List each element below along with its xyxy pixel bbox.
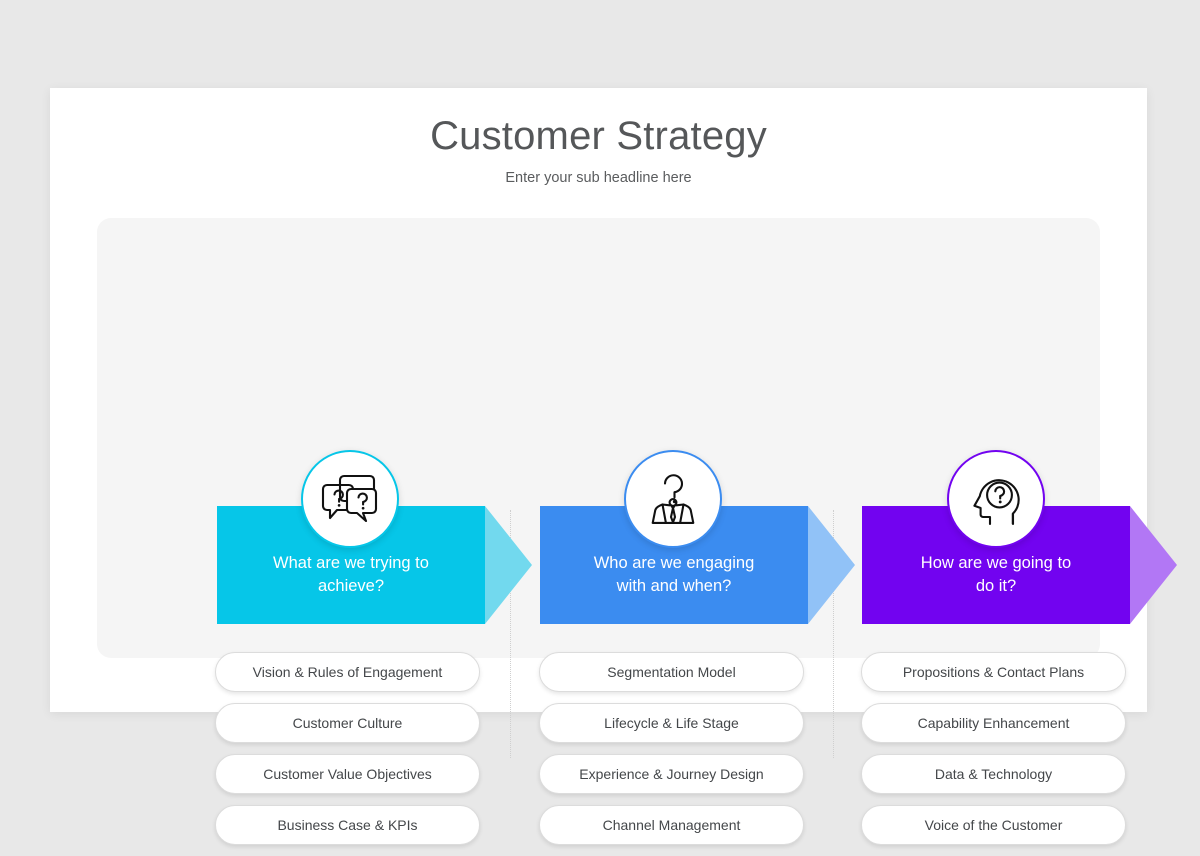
speech-bubbles-question-icon: [301, 450, 399, 548]
list-item[interactable]: Capability Enhancement: [861, 703, 1126, 743]
diagram-panel: What are we trying to achieve? Vision & …: [97, 218, 1100, 658]
arrow-head-3: [1130, 506, 1177, 624]
stage-question-1-line2: achieve?: [318, 577, 384, 595]
stage-question-2-line1: Who are we engaging: [594, 554, 755, 572]
list-item-label: Channel Management: [603, 817, 741, 833]
list-item-label: Data & Technology: [935, 766, 1052, 782]
stage-question-1: What are we trying to achieve?: [217, 552, 485, 598]
stage-items-2: Segmentation Model Lifecycle & Life Stag…: [539, 652, 804, 856]
list-item-label: Vision & Rules of Engagement: [253, 664, 443, 680]
arrow-head-1: [485, 506, 532, 624]
stage-question-2: Who are we engaging with and when?: [540, 552, 808, 598]
list-item[interactable]: Segmentation Model: [539, 652, 804, 692]
list-item[interactable]: Customer Value Objectives: [215, 754, 480, 794]
list-item[interactable]: Vision & Rules of Engagement: [215, 652, 480, 692]
list-item[interactable]: Voice of the Customer: [861, 805, 1126, 845]
list-item[interactable]: Data & Technology: [861, 754, 1126, 794]
stage-items-1: Vision & Rules of Engagement Customer Cu…: [215, 652, 480, 856]
head-profile-question-icon: [947, 450, 1045, 548]
slide-card: Customer Strategy Enter your sub headlin…: [50, 88, 1147, 712]
list-item[interactable]: Channel Management: [539, 805, 804, 845]
list-item[interactable]: Lifecycle & Life Stage: [539, 703, 804, 743]
list-item-label: Experience & Journey Design: [579, 766, 763, 782]
list-item-label: Business Case & KPIs: [277, 817, 417, 833]
person-question-head-icon: [624, 450, 722, 548]
stage-question-1-line1: What are we trying to: [273, 554, 429, 572]
list-item-label: Customer Value Objectives: [263, 766, 432, 782]
list-item-label: Capability Enhancement: [918, 715, 1070, 731]
stage-items-3: Propositions & Contact Plans Capability …: [861, 652, 1126, 856]
page-subtitle: Enter your sub headline here: [50, 170, 1147, 186]
stage-question-3-line2: do it?: [976, 577, 1016, 595]
list-item[interactable]: Customer Culture: [215, 703, 480, 743]
list-item-label: Segmentation Model: [607, 664, 735, 680]
stage-question-3: How are we going to do it?: [862, 552, 1130, 598]
list-item-label: Propositions & Contact Plans: [903, 664, 1084, 680]
list-item-label: Voice of the Customer: [925, 817, 1063, 833]
list-item[interactable]: Business Case & KPIs: [215, 805, 480, 845]
arrow-head-2: [808, 506, 855, 624]
list-item[interactable]: Experience & Journey Design: [539, 754, 804, 794]
page-title: Customer Strategy: [50, 114, 1147, 159]
list-item-label: Lifecycle & Life Stage: [604, 715, 739, 731]
stage-question-2-line2: with and when?: [617, 577, 732, 595]
stage-question-3-line1: How are we going to: [921, 554, 1071, 572]
list-item-label: Customer Culture: [293, 715, 403, 731]
list-item[interactable]: Propositions & Contact Plans: [861, 652, 1126, 692]
